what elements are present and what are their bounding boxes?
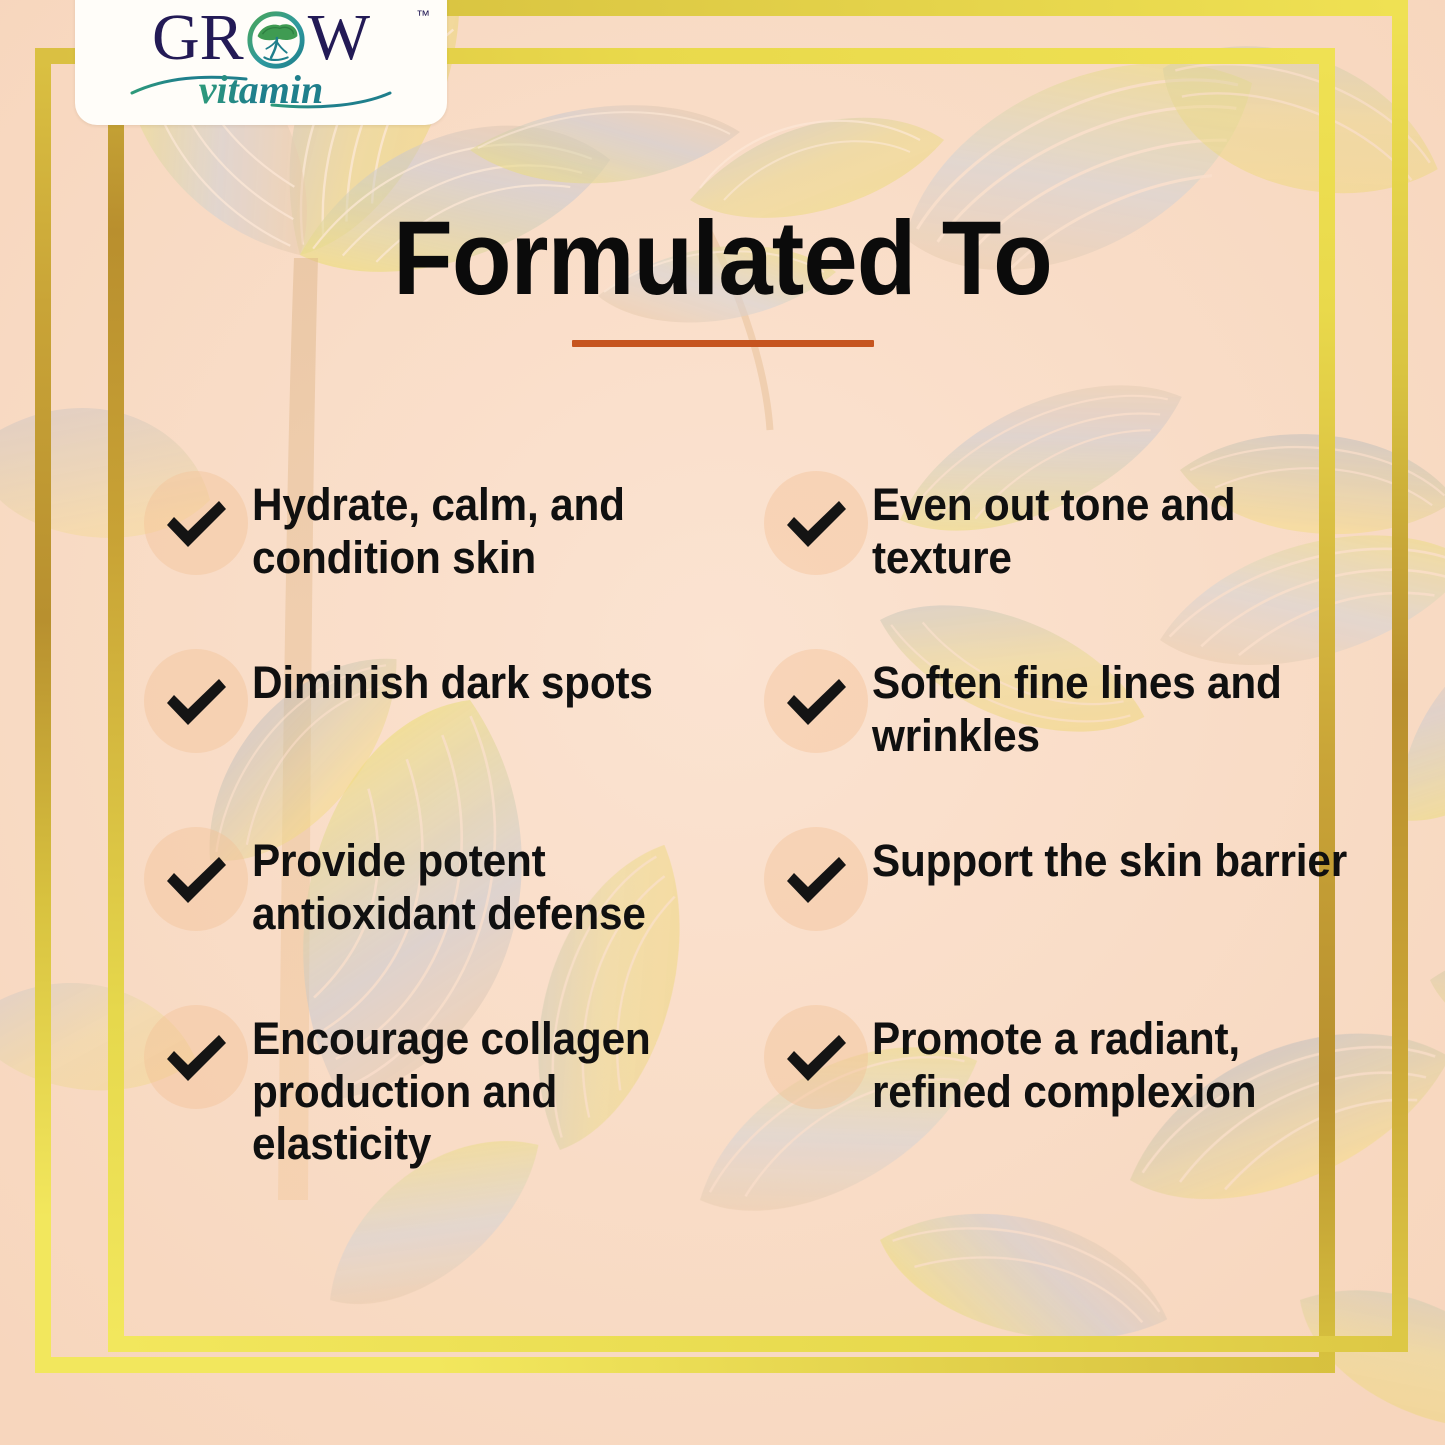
benefit-item-provide-potent-antioxidant-defense: Provide potent antioxidant defense — [140, 821, 760, 999]
benefit-item-even-out-tone-and-texture: Even out tone and texture — [760, 465, 1380, 643]
check-icon-wrap — [760, 645, 872, 757]
check-icon — [161, 666, 231, 736]
check-icon — [781, 488, 851, 558]
wordmark-w: W — [308, 5, 370, 71]
benefit-item-promote-a-radiant-refined-complexion: Promote a radiant, refined complexion — [760, 999, 1380, 1177]
check-icon — [161, 488, 231, 558]
benefit-label: Diminish dark spots — [252, 643, 730, 710]
wordmark-gr: GR — [152, 5, 244, 71]
benefit-label: Support the skin barrier — [872, 821, 1350, 888]
title-block: Formulated To — [0, 205, 1445, 347]
check-icon-wrap — [140, 823, 252, 935]
check-icon-wrap — [140, 467, 252, 579]
check-icon — [781, 844, 851, 914]
benefit-item-encourage-collagen-production-and-elasticity: Encourage collagen production and elasti… — [140, 999, 760, 1177]
benefit-label: Hydrate, calm, and condition skin — [252, 465, 730, 584]
benefit-label: Encourage collagen production and elasti… — [252, 999, 730, 1171]
benefit-item-hydrate-calm-condition-skin: Hydrate, calm, and condition skin — [140, 465, 760, 643]
check-icon — [161, 844, 231, 914]
script-text: vitamin — [199, 67, 323, 112]
benefit-label: Promote a radiant, refined complexion — [872, 999, 1350, 1118]
benefit-label: Even out tone and texture — [872, 465, 1350, 584]
check-icon — [781, 1022, 851, 1092]
check-icon-wrap — [140, 1001, 252, 1113]
check-icon-wrap — [140, 645, 252, 757]
tree-in-circle-icon — [245, 9, 307, 71]
check-icon-wrap — [760, 467, 872, 579]
check-icon-wrap — [760, 823, 872, 935]
check-icon-wrap — [760, 1001, 872, 1113]
brand-logo-card[interactable]: GR — [75, 0, 447, 125]
benefit-item-support-the-skin-barrier: Support the skin barrier — [760, 821, 1380, 999]
check-icon — [161, 1022, 231, 1092]
benefit-label: Provide potent antioxidant defense — [252, 821, 730, 940]
trademark-symbol: ™ — [416, 7, 430, 23]
benefits-grid: Hydrate, calm, and condition skin Even o… — [140, 465, 1380, 1177]
benefit-item-soften-fine-lines-and-wrinkles: Soften fine lines and wrinkles — [760, 643, 1380, 821]
check-icon — [781, 666, 851, 736]
benefit-label: Soften fine lines and wrinkles — [872, 643, 1350, 762]
page-title: Formulated To — [51, 205, 1395, 312]
title-underline-rule — [572, 340, 874, 347]
benefit-item-diminish-dark-spots: Diminish dark spots — [140, 643, 760, 821]
formulated-to-poster: GR — [0, 0, 1445, 1445]
brand-script-vitamin: vitamin — [96, 63, 426, 119]
